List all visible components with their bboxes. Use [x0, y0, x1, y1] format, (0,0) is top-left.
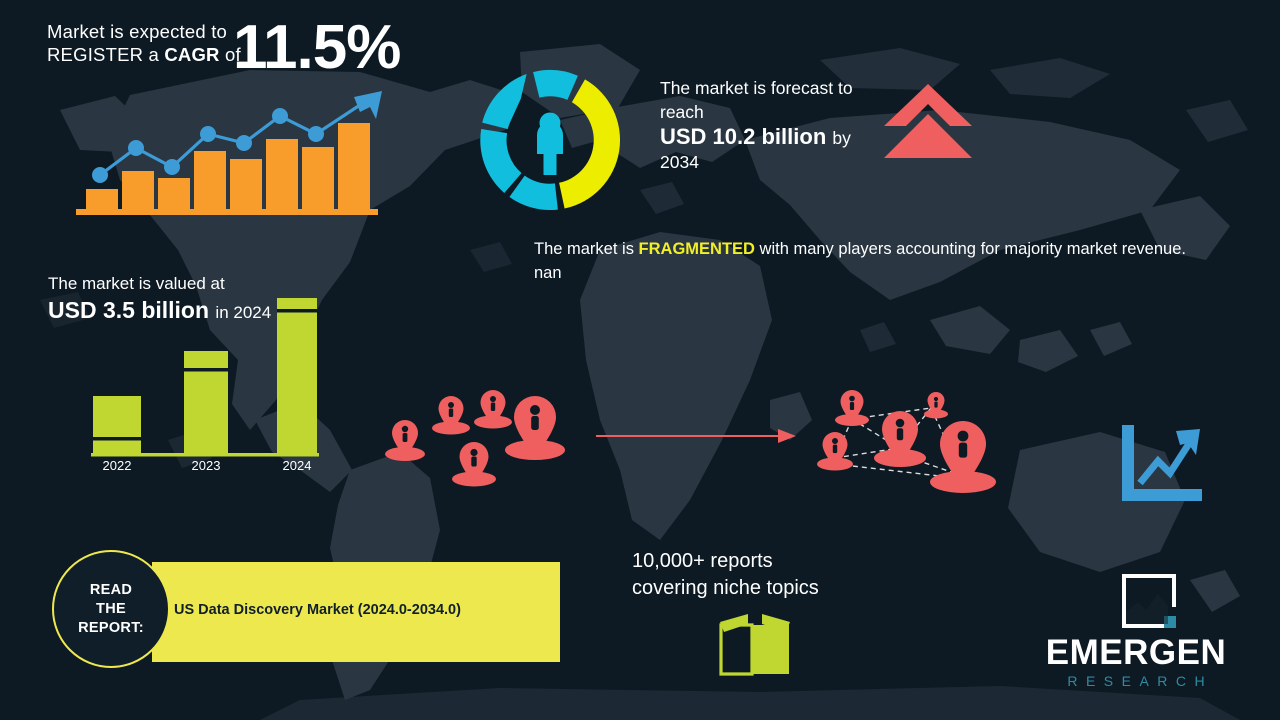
fragmentation-statement: The market is FRAGMENTED with many playe… [534, 237, 1204, 285]
donut-slice-c [480, 129, 521, 193]
orange-trend-chart [70, 85, 410, 220]
open-book-icon [718, 612, 792, 676]
map-pin-person-icon [432, 396, 470, 435]
donut-slice-b [482, 74, 526, 129]
green-baseline [91, 453, 319, 457]
bar-2022-divider [93, 437, 141, 441]
trend-arrowhead [354, 91, 382, 119]
read-the-report-label: READ THE REPORT: [78, 581, 144, 638]
read-the-report-button[interactable]: READ THE REPORT: [52, 550, 170, 668]
forecast-value: USD 10.2 billion by [660, 124, 851, 150]
cta-line-2: THE [78, 600, 144, 619]
map-pin-person-icon [474, 390, 512, 429]
map-pin-cluster-left [383, 386, 583, 496]
bar-2023 [184, 351, 228, 453]
map-pin-person-icon [930, 421, 996, 493]
donut-slice-a [533, 70, 578, 100]
logo-subtitle: RESEARCH [1020, 673, 1252, 689]
reports-count-text: 10,000+ reports covering niche topics [632, 548, 819, 602]
report-title: US Data Discovery Market (2024.0-2034.0) [174, 602, 461, 618]
green-bar-label-2023: 2023 [176, 458, 236, 473]
forecast-amount: USD 10.2 billion [660, 124, 826, 149]
cagr-headline-line2-pre: REGISTER a [47, 44, 164, 65]
forecast-label: The market is forecast to reach [660, 76, 890, 124]
orange-bars [86, 123, 370, 211]
green-bars-svg [85, 290, 325, 470]
cagr-headline-line2: REGISTER a CAGR of [47, 43, 241, 66]
green-bar-chart: 2022 2023 2024 [85, 290, 325, 475]
forecast-year: 2034 [660, 152, 699, 173]
bar-2024-divider [277, 309, 317, 313]
infographic-canvas: Market is expected to REGISTER a CAGR of… [0, 0, 1280, 720]
bar-2024 [277, 298, 317, 453]
map-pin-person-icon [924, 392, 948, 419]
cagr-keyword: CAGR [164, 44, 219, 65]
market-share-donut [462, 52, 638, 228]
green-bar-label-2022: 2022 [87, 458, 147, 473]
map-pin-person-icon [385, 420, 425, 461]
cagr-headline-line1: Market is expected to [47, 20, 241, 43]
map-pin-person-icon [505, 396, 565, 460]
logo-square-icon [1120, 572, 1178, 630]
orange-baseline [76, 209, 378, 215]
donut-slice-leading [559, 79, 620, 208]
map-pin-person-icon [452, 442, 496, 487]
cagr-headline: Market is expected to REGISTER a CAGR of [47, 20, 241, 66]
cta-line-1: READ [78, 581, 144, 600]
map-pin-person-icon [874, 411, 926, 467]
report-banner[interactable]: US Data Discovery Market (2024.0-2034.0) [152, 562, 560, 662]
growth-chart-icon [1118, 425, 1202, 505]
content-layer: Market is expected to REGISTER a CAGR of… [0, 0, 1280, 720]
cta-line-3: REPORT: [78, 619, 144, 638]
green-bar-label-2024: 2024 [267, 458, 327, 473]
reports-count-line2: covering niche topics [632, 575, 819, 602]
logo-wordmark: EMERGEN [1020, 634, 1252, 672]
cagr-value: 11.5% [233, 17, 400, 79]
right-arrow-icon [596, 428, 796, 444]
bar-2022 [93, 396, 141, 453]
double-chevron-up-icon [882, 82, 974, 160]
reports-count-line1: 10,000+ reports [632, 548, 819, 575]
donut-slice-d [509, 176, 558, 210]
map-pin-cluster-right [805, 386, 1010, 501]
fragmentation-pre: The market is [534, 240, 639, 258]
map-pin-person-icon [817, 432, 853, 471]
forecast-by: by [832, 128, 850, 148]
fragmentation-highlight: FRAGMENTED [639, 240, 755, 258]
person-icon [537, 113, 563, 176]
map-pin-person-icon [835, 390, 869, 426]
bar-2023-divider [184, 368, 228, 372]
